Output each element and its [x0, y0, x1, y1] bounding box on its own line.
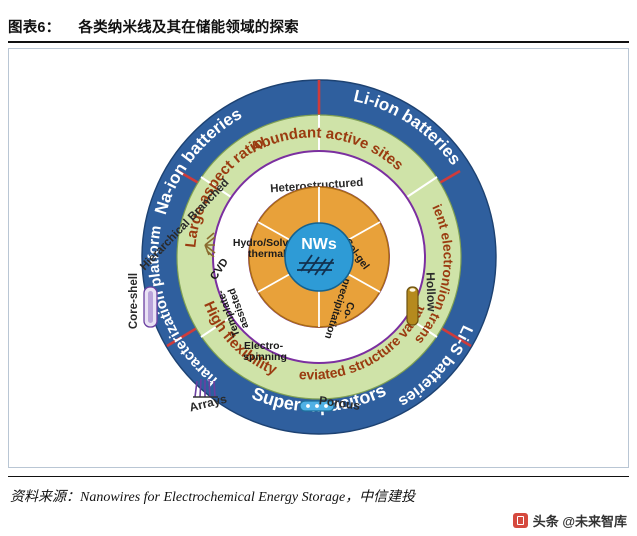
svg-text:Hollow: Hollow	[423, 272, 438, 312]
svg-text:Core-shell: Core-shell	[128, 273, 140, 329]
nanowire-diagram: Na-ion batteries Li-ion batteries Li-S b…	[9, 49, 628, 467]
toutiao-logo-icon	[513, 513, 528, 528]
page-root: 图表6： 各类纳米线及其在储能领域的探索	[0, 0, 637, 536]
figure-source: 资料来源：Nanowires for Electrochemical Energ…	[10, 486, 631, 510]
header-label: 图表6：	[8, 16, 60, 37]
core-shell-icon	[144, 287, 157, 327]
svg-text:Electro- spinning: Electro- spinning	[243, 340, 287, 363]
watermark: 头条 @未来智库	[513, 511, 627, 530]
source-text: Nanowires for Electrochemical Energy Sto…	[80, 490, 415, 505]
figure-header: 图表6： 各类纳米线及其在储能领域的探索	[8, 10, 629, 42]
watermark-text: 头条 @未来智库	[533, 511, 627, 530]
footer-divider	[8, 476, 629, 477]
source-label: 资料来源：	[10, 490, 80, 505]
page-title: 各类纳米线及其在储能领域的探索	[78, 16, 299, 37]
center-label: NWs	[301, 236, 337, 253]
figure-panel: Na-ion batteries Li-ion batteries Li-S b…	[8, 48, 629, 468]
header-divider	[8, 41, 629, 43]
hollow-icon	[407, 287, 418, 325]
